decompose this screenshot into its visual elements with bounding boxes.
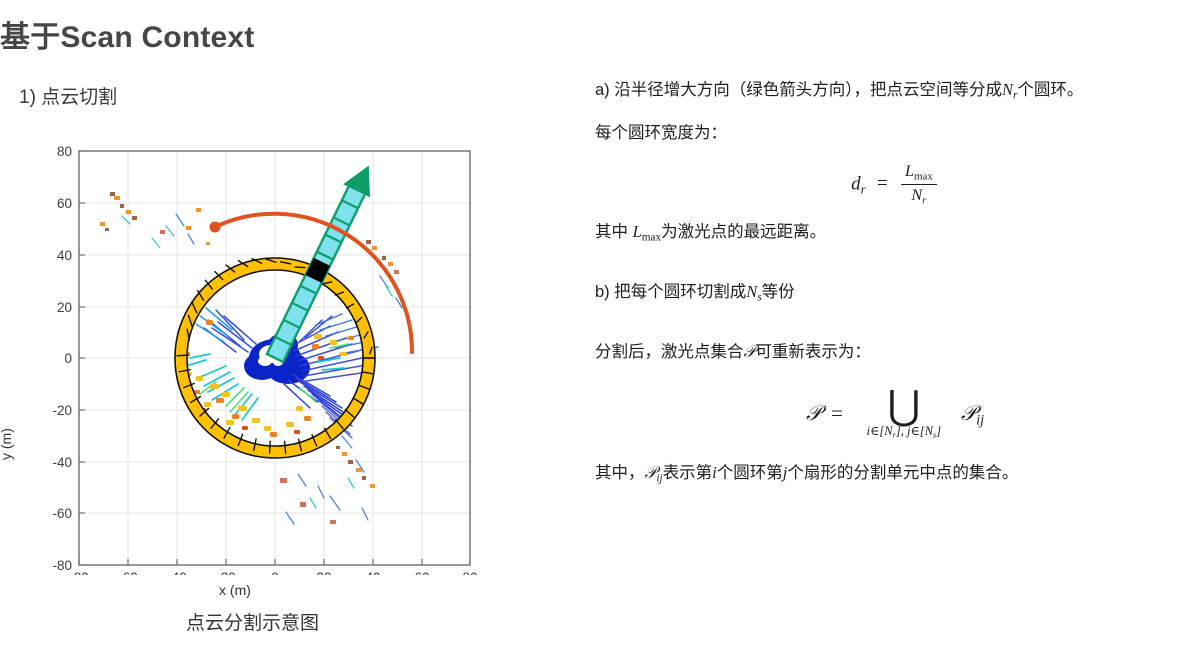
formula1-fraction: Lmax Nr bbox=[901, 162, 937, 207]
y-axis-label: y (m) bbox=[0, 428, 14, 460]
page-title: 基于Scan Context bbox=[0, 12, 255, 56]
para-a3-pre: 其中 bbox=[595, 223, 628, 241]
formula-point-set-union: 𝒫 = ⋃ i∈[Nr], j∈[Ns] 𝒫ij bbox=[595, 389, 1195, 439]
svg-text:40: 40 bbox=[365, 570, 380, 575]
para-b3-mid1: 表示第 bbox=[663, 464, 713, 482]
svg-text:60: 60 bbox=[414, 570, 429, 575]
svg-text:20: 20 bbox=[57, 300, 72, 315]
section-subtitle: 1) 点云切割 bbox=[19, 82, 117, 109]
slide-root: 基于Scan Context 1) 点云切割 bbox=[0, 0, 1204, 652]
formula2-rhs-P: 𝒫 bbox=[961, 401, 976, 425]
svg-text:80: 80 bbox=[462, 570, 477, 575]
paragraph-a-line3: 其中 Lmax为激光点的最远距离。 bbox=[595, 220, 1195, 246]
para-a3-L: L bbox=[633, 222, 642, 241]
explanation-column: a) 沿半径增大方向（绿色箭头方向），把点云空间等分成Nr个圆环。 每个圆环宽度… bbox=[595, 78, 1195, 503]
formula-ring-width: dr = Lmax Nr bbox=[595, 162, 1195, 207]
formula1-d-sub: r bbox=[861, 181, 866, 196]
para-b3-post: 个扇形的分割单元中点的集合。 bbox=[787, 464, 1018, 482]
scatter-plot-svg: -80-60 -40-20 0 20 40 60 80 80 60 40 20 … bbox=[0, 130, 510, 575]
paragraph-b-line3: 其中，𝒫ij表示第i个圆环第j个扇形的分割单元中点的集合。 bbox=[595, 461, 1195, 487]
para-b3-pre: 其中， bbox=[595, 464, 645, 482]
x-axis-label: x (m) bbox=[0, 582, 470, 598]
svg-text:-80: -80 bbox=[69, 570, 89, 575]
svg-text:-60: -60 bbox=[118, 570, 138, 575]
paragraph-b-line1: b) 把每个圆环切割成Ns等份 bbox=[595, 280, 1195, 306]
formula1-N-sub: r bbox=[922, 194, 926, 206]
formula1-N: N bbox=[911, 187, 922, 204]
svg-text:-20: -20 bbox=[216, 570, 236, 575]
formula2-lhs-P: 𝒫 bbox=[806, 401, 821, 425]
para-b-post: 等份 bbox=[762, 283, 795, 301]
para-b2-P: 𝒫 bbox=[744, 342, 756, 361]
y-tick-labels: 80 60 40 20 0 -20 -40-60 -80 bbox=[52, 144, 72, 573]
para-b3-mid2: 个圆环第 bbox=[717, 464, 783, 482]
formula1-d: d bbox=[851, 173, 861, 194]
para-a-post: 个圆环。 bbox=[1017, 81, 1083, 99]
svg-text:0: 0 bbox=[271, 570, 279, 575]
figure-caption: 点云分割示意图 bbox=[0, 608, 505, 635]
svg-text:-40: -40 bbox=[167, 570, 187, 575]
para-b2-post: 可重新表示为： bbox=[755, 343, 871, 361]
para-a-pre: a) 沿半径增大方向（绿色箭头方向），把点云空间等分成 bbox=[595, 81, 1002, 99]
svg-text:-40: -40 bbox=[52, 455, 72, 470]
para-a-N: N bbox=[1002, 80, 1013, 99]
formula1-L-sub: max bbox=[914, 170, 933, 182]
union-limit-end: ] bbox=[936, 424, 941, 438]
svg-text:-20: -20 bbox=[52, 403, 72, 418]
svg-text:20: 20 bbox=[316, 570, 331, 575]
para-b-pre: b) 把每个圆环切割成 bbox=[595, 283, 746, 301]
formula2-rhs-sub: ij bbox=[976, 412, 984, 428]
para-a3-post: 为激光点的最远距离。 bbox=[661, 223, 826, 241]
svg-text:-60: -60 bbox=[52, 506, 72, 521]
svg-text:40: 40 bbox=[57, 248, 72, 263]
para-b2-pre: 分割后，激光点集合 bbox=[595, 343, 744, 361]
para-b-N: N bbox=[746, 282, 757, 301]
svg-text:80: 80 bbox=[57, 144, 72, 159]
formula1-equals: = bbox=[877, 173, 888, 194]
paragraph-b-line2: 分割后，激光点集合𝒫可重新表示为： bbox=[595, 340, 1195, 365]
formula1-denominator: Nr bbox=[901, 185, 937, 207]
x-tick-labels: -80-60 -40-20 0 20 40 60 80 bbox=[69, 570, 477, 575]
union-limits: i∈[Nr], j∈[Ns] bbox=[867, 425, 941, 439]
point-cloud-figure: -80-60 -40-20 0 20 40 60 80 80 60 40 20 … bbox=[0, 130, 520, 650]
union-glyph: ⋃ bbox=[867, 389, 941, 424]
svg-text:-80: -80 bbox=[52, 558, 72, 573]
formula2-equals: = bbox=[831, 401, 843, 425]
formula1-L: L bbox=[905, 163, 914, 180]
arc-start-marker bbox=[210, 222, 221, 233]
union-limit-mid: ], j∈[N bbox=[896, 424, 933, 438]
para-a3-L-sub: max bbox=[642, 232, 661, 244]
formula2-union-operator: ⋃ i∈[Nr], j∈[Ns] bbox=[867, 389, 941, 439]
para-b3-P: 𝒫 bbox=[645, 463, 657, 482]
union-limit-i: i∈[N bbox=[867, 424, 893, 438]
svg-text:0: 0 bbox=[64, 351, 72, 366]
paragraph-a-line2: 每个圆环宽度为： bbox=[595, 122, 1195, 146]
formula1-numerator: Lmax bbox=[901, 162, 937, 185]
svg-text:60: 60 bbox=[57, 196, 72, 211]
paragraph-a-line1: a) 沿半径增大方向（绿色箭头方向），把点云空间等分成Nr个圆环。 bbox=[595, 78, 1195, 104]
